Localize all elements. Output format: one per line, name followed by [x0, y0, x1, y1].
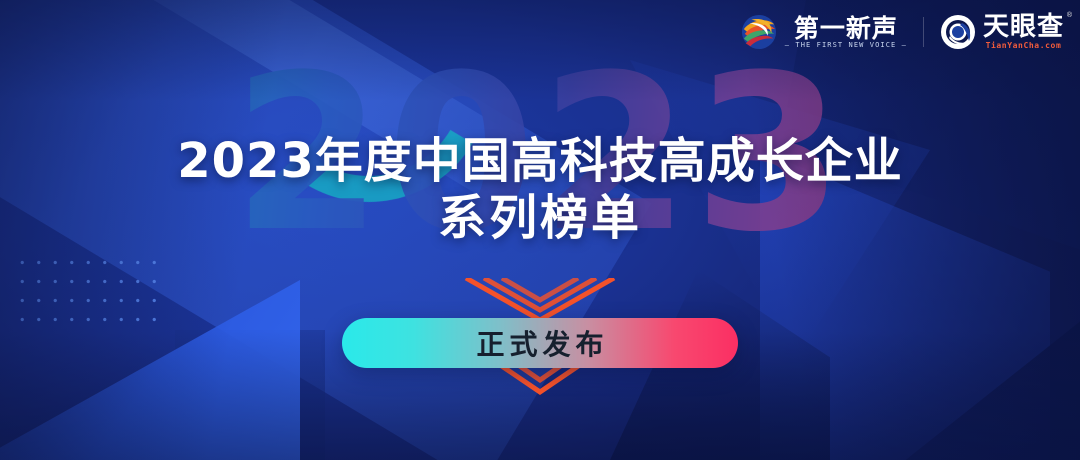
logo-diyixinsheng[interactable]: 第一新声 — THE FIRST NEW VOICE — — [740, 14, 907, 50]
publish-button[interactable]: 正式发布 — [342, 318, 738, 368]
title-line-2: 系列榜单 — [0, 189, 1080, 247]
page-title: 2023年度中国高科技高成长企业 系列榜单 — [0, 133, 1080, 247]
tyc-text-block: 天眼查 TianYanCha.com ® — [983, 14, 1064, 50]
dyx-tagline-en: — THE FIRST NEW VOICE — — [785, 42, 907, 49]
tyc-tagline-en: TianYanCha.com — [986, 42, 1062, 50]
logo-tianyancha[interactable]: 天眼查 TianYanCha.com ® — [940, 14, 1064, 50]
tyc-logo-icon — [940, 14, 976, 50]
tyc-trademark-icon: ® — [1067, 12, 1072, 19]
logo-divider — [923, 17, 924, 47]
dyx-logo-icon — [740, 14, 778, 50]
dyx-name-cn: 第一新声 — [794, 16, 898, 41]
tyc-name-cn: 天眼查 — [983, 14, 1064, 40]
dyx-text-block: 第一新声 — THE FIRST NEW VOICE — — [785, 16, 907, 49]
title-line-1: 2023年度中国高科技高成长企业 — [0, 133, 1080, 189]
poster-canvas: 2023 第一新声 — THE FIRST NEW VOICE — — [0, 0, 1080, 460]
header-logos: 第一新声 — THE FIRST NEW VOICE — 天眼查 TianYan… — [740, 14, 1064, 50]
publish-button-label: 正式发布 — [471, 323, 608, 363]
